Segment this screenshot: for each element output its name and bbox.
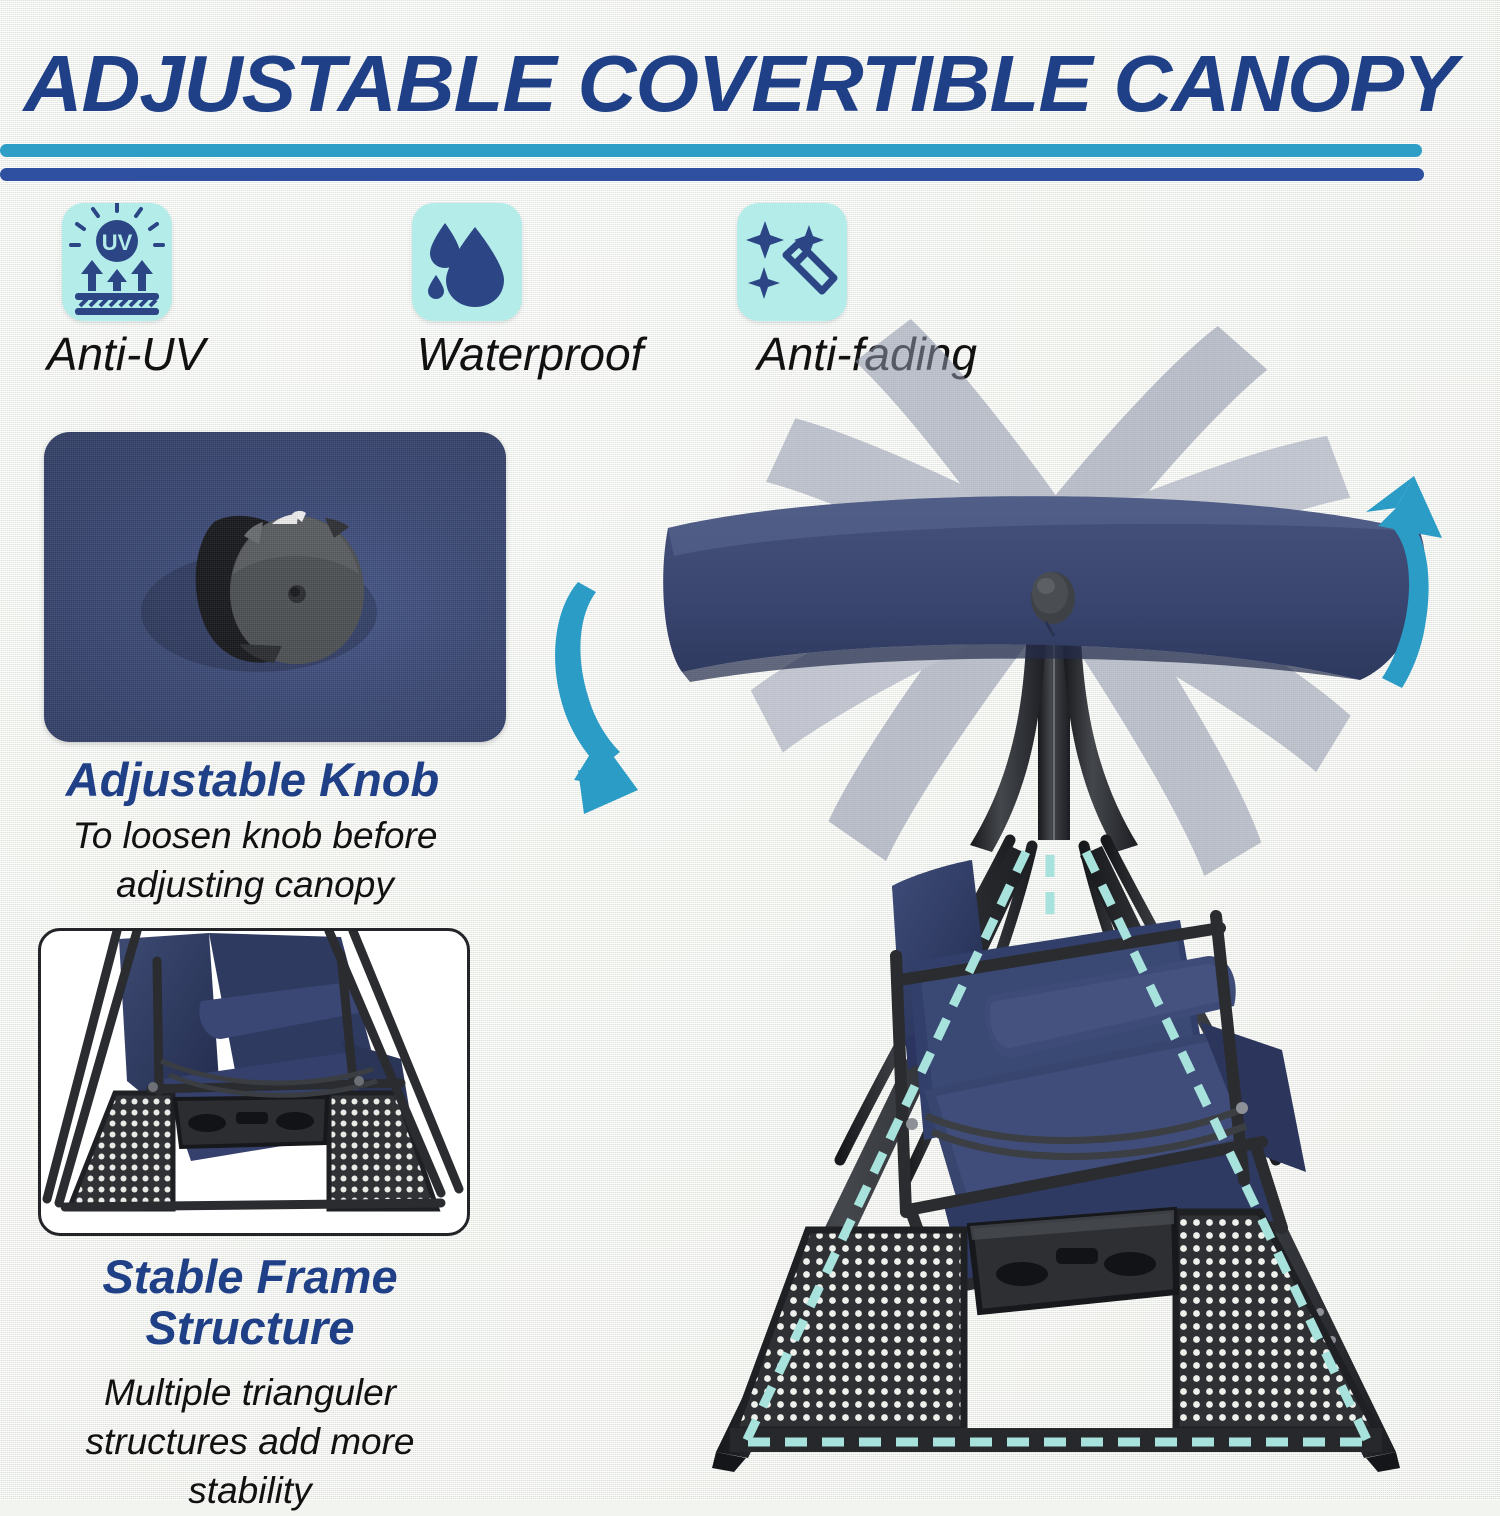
callout-description-adjustable-knob: To loosen knob beforeadjusting canopy: [30, 812, 480, 910]
rotate-down-arrow: [555, 582, 638, 814]
feature-badge-waterproof: Waterproof: [412, 203, 522, 321]
page-title: ADJUSTABLE COVERTIBLE CANOPY: [0, 38, 1495, 130]
navy-fabric-texture: [44, 432, 506, 742]
divider-rule-teal: [0, 144, 1422, 157]
product-illustration: [540, 280, 1500, 1500]
adjustable-knob-photo: [44, 432, 506, 742]
feature-badge-anti-uv: UV Anti-UV: [62, 203, 172, 321]
feature-label-anti-uv: Anti-UV: [47, 327, 205, 381]
svg-text:UV: UV: [102, 230, 133, 255]
anti-uv-tile: UV: [62, 203, 172, 321]
water-drop-icon: [412, 203, 522, 321]
callout-description-stable-frame: Multiple triangulerstructures add morest…: [30, 1368, 470, 1516]
divider-rule-navy: [0, 168, 1424, 181]
frame-underside-illustration: [41, 931, 467, 1233]
stable-frame-photo: [38, 928, 470, 1236]
cup-holder-tray: [970, 1210, 1176, 1312]
callout-title-stable-frame: Stable FrameStructure: [0, 1252, 500, 1354]
waterproof-tile: [412, 203, 522, 321]
uv-sun-fabric-icon: UV: [62, 203, 172, 321]
callout-title-adjustable-knob: Adjustable Knob: [0, 752, 505, 807]
